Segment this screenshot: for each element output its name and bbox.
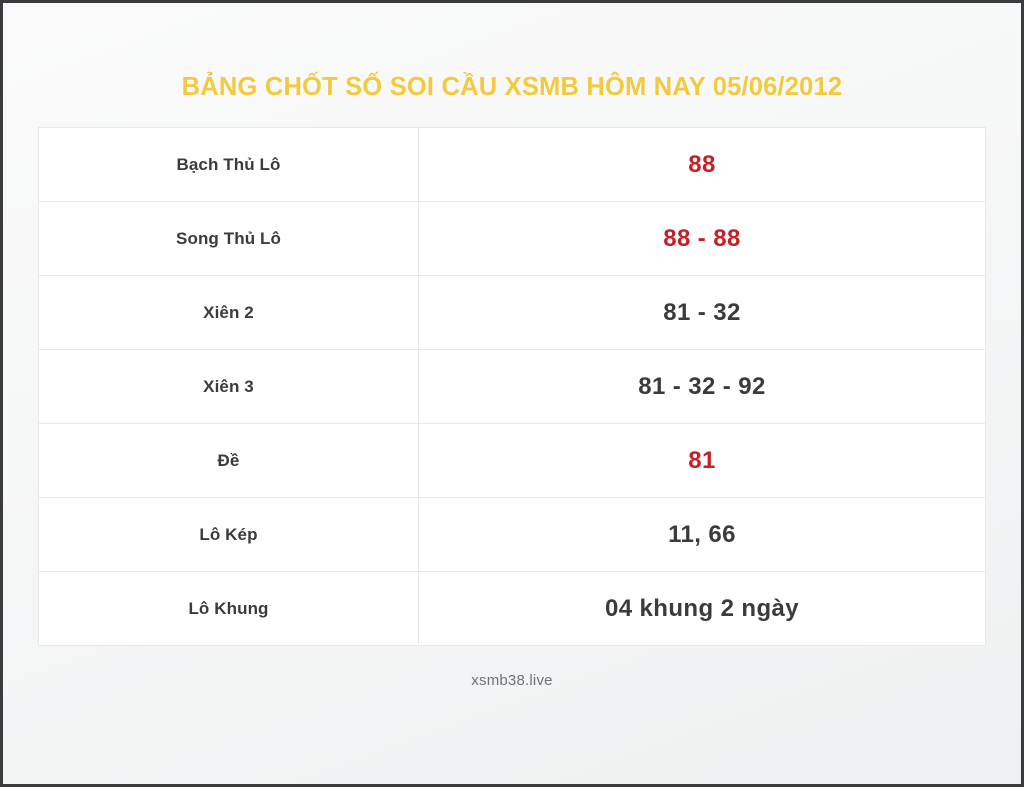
page-title: BẢNG CHỐT SỐ SOI CẦU XSMB HÔM NAY 05/06/…: [182, 73, 843, 102]
row-label: Xiên 3: [39, 350, 419, 424]
row-label: Xiên 2: [39, 276, 419, 350]
table-row: Xiên 381 - 32 - 92: [39, 350, 986, 424]
row-label: Đề: [39, 424, 419, 498]
row-label: Lô Khung: [39, 572, 419, 646]
row-value: 88: [419, 128, 986, 202]
page-container: BẢNG CHỐT SỐ SOI CẦU XSMB HÔM NAY 05/06/…: [0, 0, 1024, 787]
row-value: 88 - 88: [419, 202, 986, 276]
row-label: Bạch Thủ Lô: [39, 128, 419, 202]
row-value: 11, 66: [419, 498, 986, 572]
table-row: Đề81: [39, 424, 986, 498]
row-value: 81 - 32: [419, 276, 986, 350]
table-row: Bạch Thủ Lô88: [39, 128, 986, 202]
row-label: Song Thủ Lô: [39, 202, 419, 276]
table-body: Bạch Thủ Lô88Song Thủ Lô88 - 88Xiên 281 …: [39, 128, 986, 646]
table-row: Lô Khung04 khung 2 ngày: [39, 572, 986, 646]
row-value: 04 khung 2 ngày: [419, 572, 986, 646]
row-value: 81 - 32 - 92: [419, 350, 986, 424]
lottery-table-container: Bạch Thủ Lô88Song Thủ Lô88 - 88Xiên 281 …: [38, 127, 986, 646]
row-value: 81: [419, 424, 986, 498]
row-label: Lô Kép: [39, 498, 419, 572]
table-row: Xiên 281 - 32: [39, 276, 986, 350]
table-row: Song Thủ Lô88 - 88: [39, 202, 986, 276]
table-row: Lô Kép11, 66: [39, 498, 986, 572]
lottery-prediction-table: Bạch Thủ Lô88Song Thủ Lô88 - 88Xiên 281 …: [38, 127, 986, 646]
site-watermark: xsmb38.live: [471, 672, 552, 689]
